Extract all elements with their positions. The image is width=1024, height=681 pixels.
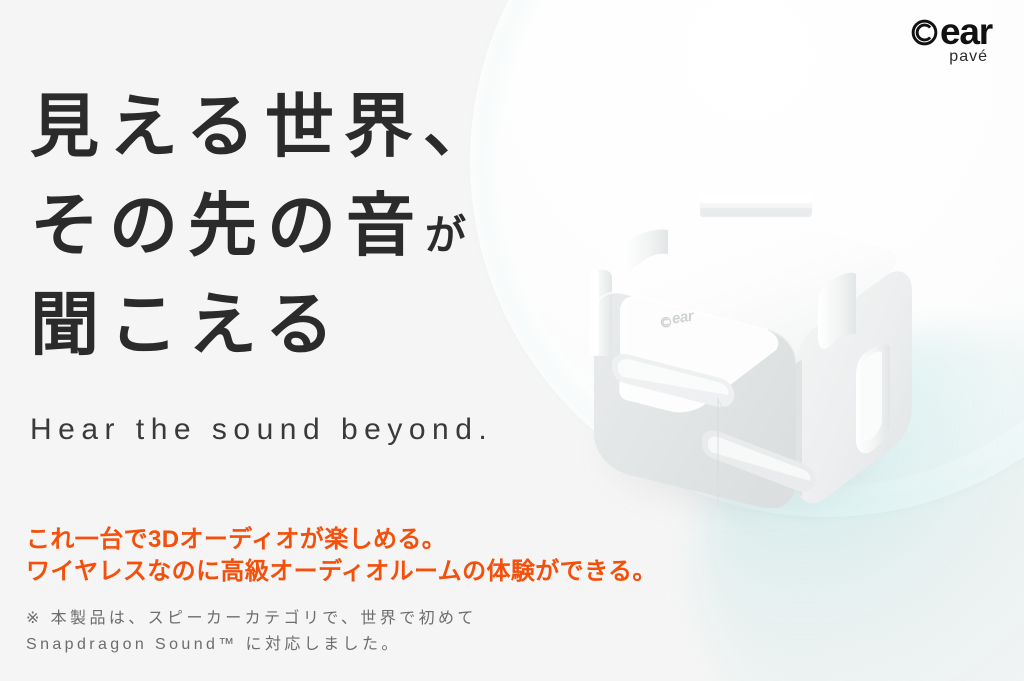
headline-line-1: 見える世界、 xyxy=(30,92,630,161)
product-logo-text: ear xyxy=(671,307,695,327)
headline-block: 見える世界、 その先の音が 聞こえる xyxy=(30,92,630,359)
headline-line-2: その先の音が xyxy=(30,191,630,260)
brand-sub-name: pavé xyxy=(911,48,988,66)
promo-line-1: これ一台で3Dオーディオが楽しめる。 xyxy=(26,524,657,556)
circled-c-icon xyxy=(911,19,938,46)
headline-line-3: 聞こえる xyxy=(30,290,630,359)
brand-logo: ear pavé xyxy=(911,14,992,66)
promo-line-2: ワイヤレスなのに高級オーディオルームの体験ができる。 xyxy=(26,556,657,588)
headline-line-2-particle: が xyxy=(425,212,470,258)
footnote-line-2: Snapdragon Sound™ に対応しました。 xyxy=(26,632,477,658)
brand-logo-main: ear xyxy=(911,14,992,49)
footnote-line-1: ※ 本製品は、スピーカーカテゴリで、世界で初めて xyxy=(26,606,477,632)
footnote-block: ※ 本製品は、スピーカーカテゴリで、世界で初めて Snapdragon Soun… xyxy=(26,606,477,658)
promo-banner: ear ear pavé 見える世界、 その先の音が 聞こえる Hear the… xyxy=(0,0,1024,681)
tagline: Hear the sound beyond. xyxy=(30,413,493,447)
brand-name: ear xyxy=(940,14,992,49)
promo-block: これ一台で3Dオーディオが楽しめる。 ワイヤレスなのに高級オーディオルームの体験… xyxy=(26,524,657,588)
circled-c-icon xyxy=(659,314,672,327)
headline-line-2-main: その先の音 xyxy=(30,187,425,264)
